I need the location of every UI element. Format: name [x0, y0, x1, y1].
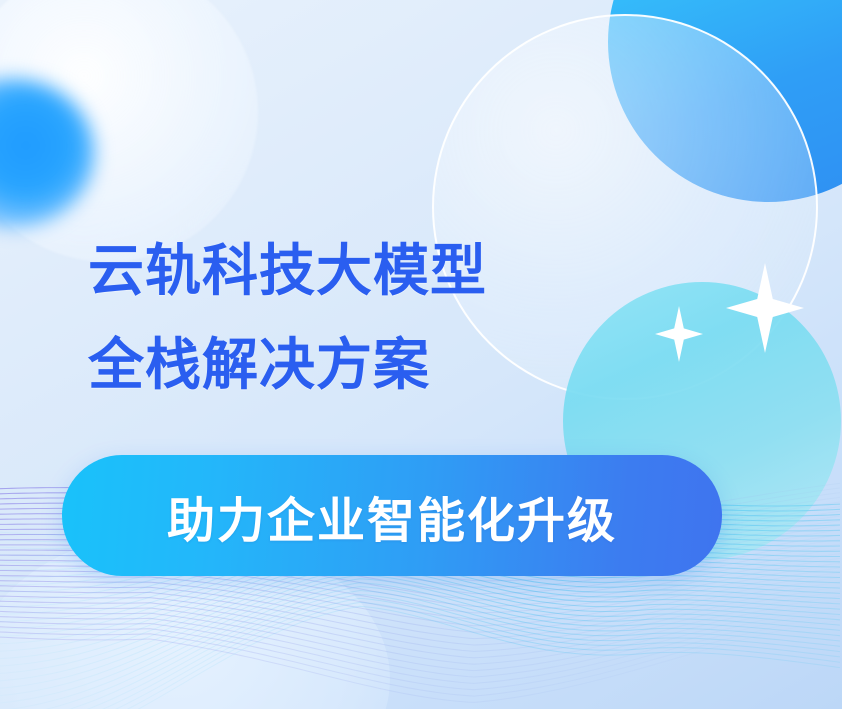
cta-button[interactable]: 助力企业智能化升级: [62, 455, 722, 576]
headline: 云轨科技大模型 全栈解决方案: [88, 224, 487, 412]
headline-line-1: 云轨科技大模型: [88, 224, 487, 318]
headline-line-2: 全栈解决方案: [88, 318, 487, 412]
cta-button-label: 助力企业智能化升级: [167, 481, 617, 551]
promo-banner: 云轨科技大模型 全栈解决方案 助力企业智能化升级: [0, 0, 842, 709]
banner-content: 云轨科技大模型 全栈解决方案 助力企业智能化升级: [0, 0, 842, 709]
